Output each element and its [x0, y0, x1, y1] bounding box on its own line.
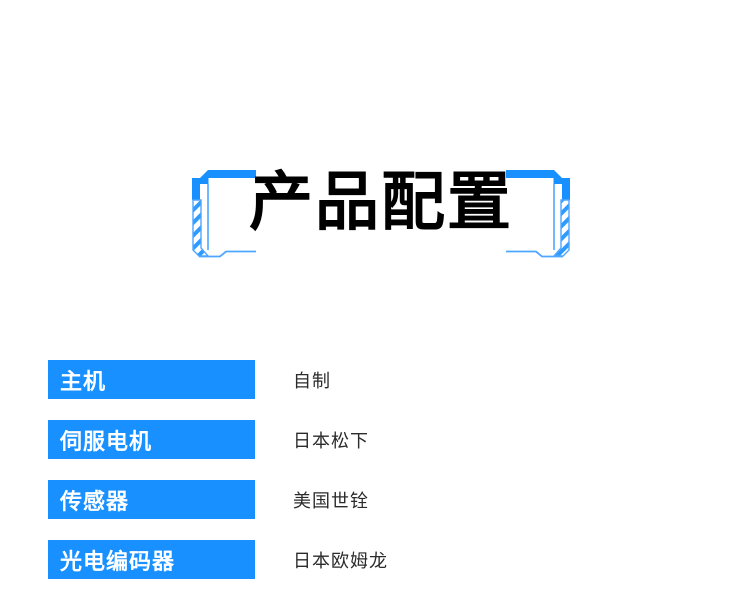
- table-row: 主机 自制: [0, 360, 750, 420]
- spec-table: 主机 自制 伺服电机 日本松下 传感器 美国世铨 光电编码器 日本欧姆龙: [0, 360, 750, 600]
- title-banner: 产品配置: [186, 138, 576, 266]
- spec-value: 日本松下: [293, 420, 369, 459]
- table-row: 伺服电机 日本松下: [0, 420, 750, 480]
- spec-value: 自制: [293, 360, 331, 399]
- table-row: 传感器 美国世铨: [0, 480, 750, 540]
- table-row: 光电编码器 日本欧姆龙: [0, 540, 750, 600]
- spec-value: 日本欧姆龙: [293, 540, 388, 579]
- spec-label: 伺服电机: [48, 420, 255, 459]
- spec-value: 美国世铨: [293, 480, 369, 519]
- spec-label: 光电编码器: [48, 540, 255, 579]
- spec-label: 传感器: [48, 480, 255, 519]
- spec-label: 主机: [48, 360, 255, 399]
- page-title: 产品配置: [186, 138, 576, 266]
